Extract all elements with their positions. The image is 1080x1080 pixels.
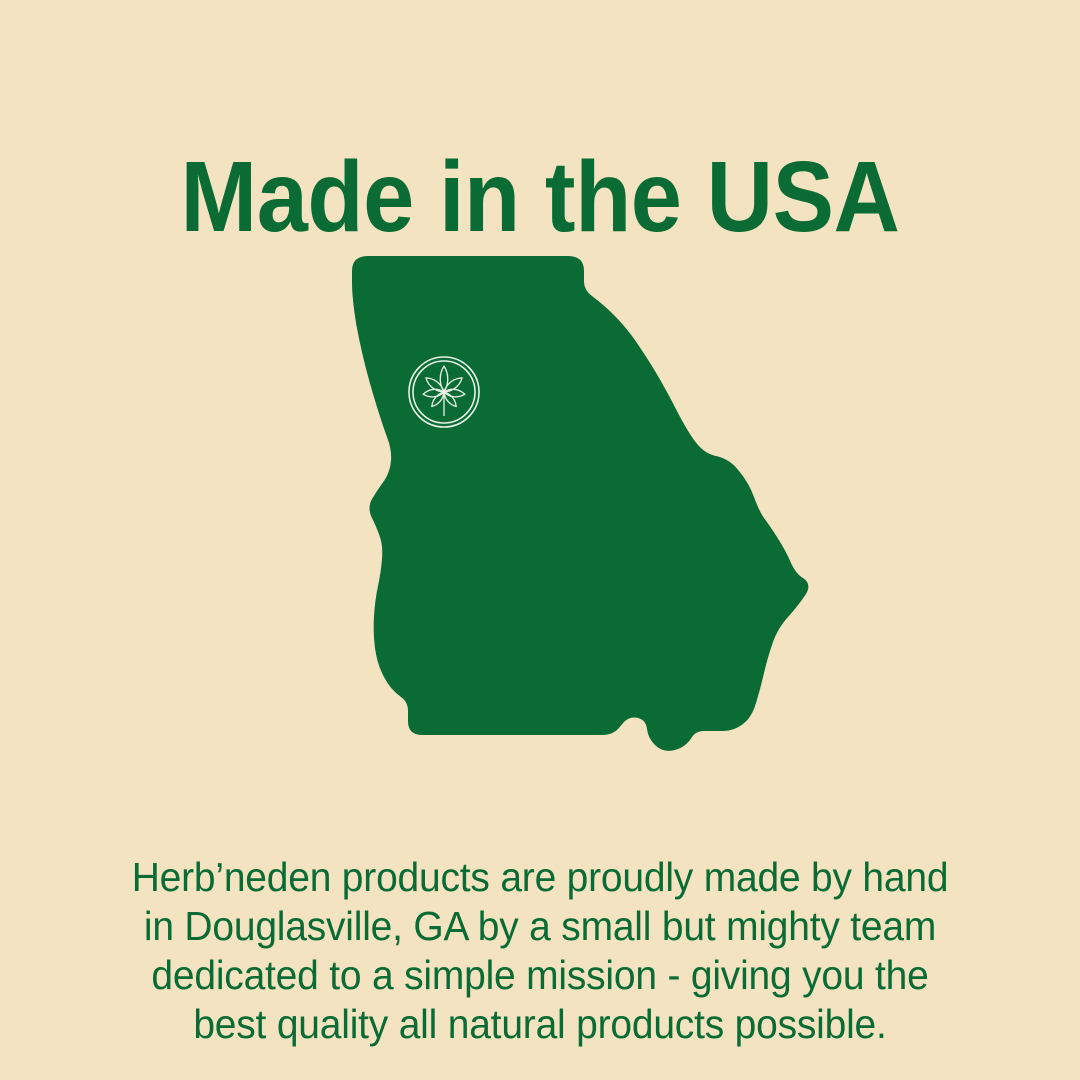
georgia-state-shape <box>352 256 808 751</box>
made-in-usa-card: Made in the USA <box>0 0 1080 1080</box>
georgia-map-svg <box>330 245 820 765</box>
description-line: best quality all natural products possib… <box>75 1000 1006 1049</box>
description-line: dedicated to a simple mission - giving y… <box>75 951 1006 1000</box>
description-line: Herb’neden products are proudly made by … <box>75 853 1006 902</box>
description-line: in Douglasville, GA by a small but might… <box>75 902 1006 951</box>
georgia-map-illustration <box>330 245 820 765</box>
page-title: Made in the USA <box>43 145 1037 249</box>
description-paragraph: Herb’neden products are proudly made by … <box>75 853 1006 1049</box>
